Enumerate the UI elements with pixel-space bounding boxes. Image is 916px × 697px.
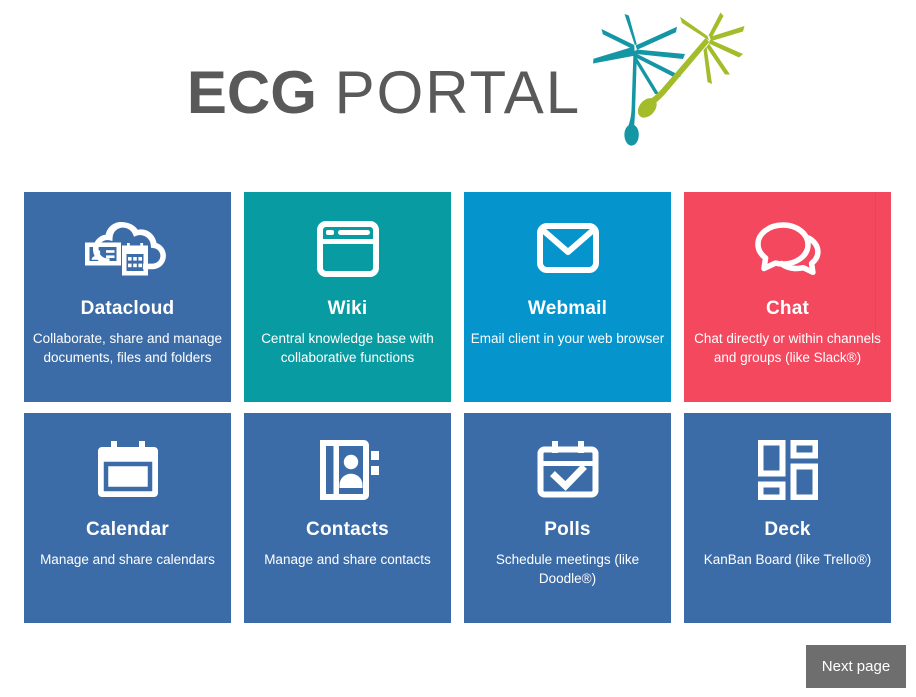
tile-title: Contacts — [306, 519, 389, 542]
tile-datacloud[interactable]: Datacloud Collaborate, share and manage … — [24, 192, 231, 402]
tile-chat[interactable]: Chat Chat directly or within channels an… — [684, 192, 891, 402]
calendar-icon — [95, 435, 161, 505]
tile-contacts[interactable]: Contacts Manage and share contacts — [244, 413, 451, 623]
logo-wordmark: ECG PORTAL — [187, 63, 581, 123]
tile-title: Wiki — [328, 298, 368, 321]
tile-title: Deck — [764, 519, 810, 542]
calendar-check-icon — [535, 435, 601, 505]
logo-text-portal: PORTAL — [335, 59, 582, 126]
cloud-card-calendar-icon — [80, 214, 176, 284]
tile-description: Central knowledge base with collaborativ… — [244, 329, 451, 367]
tile-description: Schedule meetings (like Doodle®) — [464, 550, 671, 588]
logo-text-ecg: ECG — [187, 59, 317, 126]
tile-description: Chat directly or within channels and gro… — [684, 329, 891, 367]
tile-description: Manage and share calendars — [34, 550, 221, 569]
browser-window-icon — [317, 214, 379, 284]
tile-deck[interactable]: Deck KanBan Board (like Trello®) — [684, 413, 891, 623]
tile-wiki[interactable]: Wiki Central knowledge base with collabo… — [244, 192, 451, 402]
tile-polls[interactable]: Polls Schedule meetings (like Doodle®) — [464, 413, 671, 623]
kanban-board-icon — [758, 435, 818, 505]
tile-seam-line — [875, 192, 876, 350]
tile-description: Email client in your web browser — [465, 329, 671, 348]
page-footer: Next page — [0, 628, 916, 697]
envelope-icon — [537, 214, 599, 284]
tile-webmail[interactable]: Webmail Email client in your web browser — [464, 192, 671, 402]
tile-title: Polls — [544, 519, 590, 542]
next-page-button[interactable]: Next page — [806, 645, 906, 688]
tile-title: Calendar — [86, 519, 169, 542]
tile-title: Datacloud — [81, 298, 175, 321]
tile-title: Chat — [766, 298, 809, 321]
tile-description: Collaborate, share and manage documents,… — [24, 329, 231, 367]
speech-bubbles-icon — [753, 214, 823, 284]
app-tile-grid: Datacloud Collaborate, share and manage … — [24, 192, 893, 623]
page-header: ECG PORTAL — [0, 0, 916, 180]
tile-description: KanBan Board (like Trello®) — [698, 550, 878, 569]
ecg-portal-logo: ECG PORTAL — [187, 20, 747, 167]
ecg-grass-logo-icon — [587, 12, 747, 167]
tile-title: Webmail — [528, 298, 607, 321]
tile-description: Manage and share contacts — [258, 550, 437, 569]
tile-calendar[interactable]: Calendar Manage and share calendars — [24, 413, 231, 623]
address-book-icon — [316, 435, 380, 505]
